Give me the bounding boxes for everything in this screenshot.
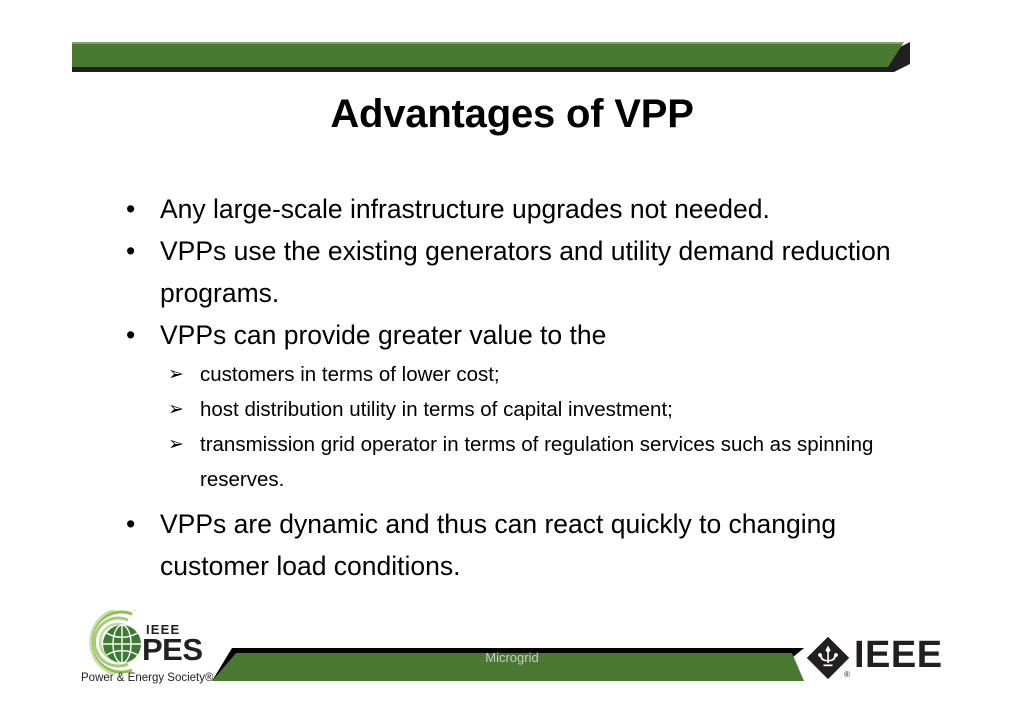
arrow-bullet-icon: ➢ (168, 392, 184, 427)
sub-bullet-list: ➢ customers in terms of lower cost; ➢ ho… (118, 357, 908, 497)
sub-list-item: ➢ host distribution utility in terms of … (118, 392, 908, 427)
sub-list-item: ➢ transmission grid operator in terms of… (118, 427, 908, 497)
list-item-text: VPPs are dynamic and thus can react quic… (160, 509, 836, 581)
bullet-list: • Any large-scale infrastructure upgrade… (118, 188, 908, 587)
ieee-registered-mark: ® (844, 670, 850, 679)
header-banner-bar (72, 42, 904, 67)
header-banner (72, 42, 910, 72)
list-item-text: VPPs use the existing generators and uti… (160, 236, 891, 308)
list-item: • Any large-scale infrastructure upgrade… (118, 188, 908, 230)
arrow-bullet-icon: ➢ (168, 357, 184, 392)
pes-tagline-text: Power & Energy Society® (81, 672, 213, 684)
header-banner-highlight (72, 42, 904, 44)
bullet-marker-icon: • (126, 314, 135, 356)
slide-canvas: Advantages of VPP • Any large-scale infr… (0, 0, 1024, 724)
sub-list-item: ➢ customers in terms of lower cost; (118, 357, 908, 392)
bullet-marker-icon: • (126, 230, 135, 272)
bullet-marker-icon: • (126, 188, 135, 230)
list-item: • VPPs can provide greater value to the (118, 314, 908, 356)
list-item-text: VPPs can provide greater value to the (160, 320, 606, 350)
list-item: • VPPs use the existing generators and u… (118, 230, 908, 314)
sub-list-item-text: host distribution utility in terms of ca… (200, 398, 673, 421)
sub-list-item-text: transmission grid operator in terms of r… (200, 433, 873, 491)
page-title: Advantages of VPP (0, 92, 1024, 137)
arrow-bullet-icon: ➢ (168, 427, 184, 462)
list-item: • VPPs are dynamic and thus can react qu… (118, 503, 908, 587)
bullet-marker-icon: • (126, 503, 135, 545)
sub-list-item-text: customers in terms of lower cost; (200, 363, 500, 386)
footer-label: Microgrid (0, 650, 1024, 665)
list-item-text: Any large-scale infrastructure upgrades … (160, 194, 770, 224)
